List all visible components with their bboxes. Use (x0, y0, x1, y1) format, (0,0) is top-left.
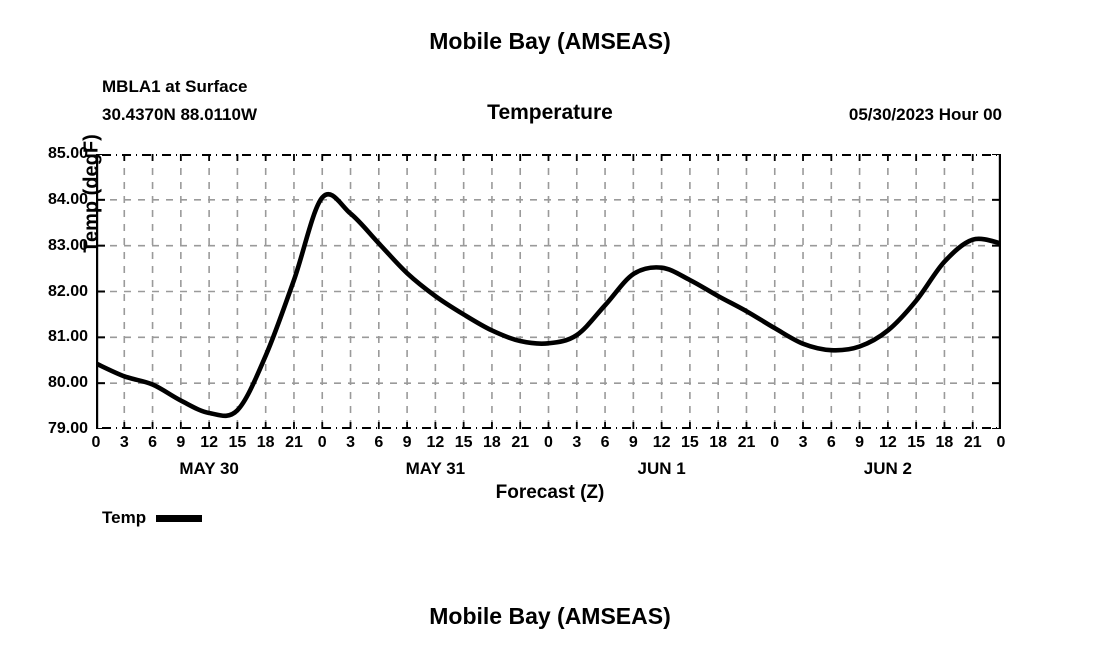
station-label: MBLA1 at Surface (102, 77, 247, 97)
y-tick-label: 81.00 (8, 329, 88, 345)
x-tick-label: 0 (981, 434, 1021, 452)
chart-page: Mobile Bay (AMSEAS) MBLA1 at Surface 30.… (0, 0, 1100, 650)
plot-area (96, 154, 1001, 429)
page-title-top: Mobile Bay (AMSEAS) (0, 28, 1100, 55)
legend-label-temp: Temp (102, 508, 146, 528)
x-axis-day-label: JUN 2 (808, 459, 968, 479)
y-tick-label: 83.00 (8, 238, 88, 254)
x-axis-day-label: JUN 1 (582, 459, 742, 479)
y-tick-label: 82.00 (8, 284, 88, 300)
temperature-line-chart (96, 154, 1001, 429)
y-tick-label: 85.00 (8, 146, 88, 162)
x-axis-day-label: MAY 31 (355, 459, 515, 479)
model-run-label: 05/30/2023 Hour 00 (849, 105, 1002, 125)
y-tick-label: 80.00 (8, 375, 88, 391)
y-tick-label: 84.00 (8, 192, 88, 208)
legend-swatch-temp (156, 515, 202, 522)
x-axis-label: Forecast (Z) (0, 482, 1100, 504)
legend: Temp (102, 508, 202, 528)
x-axis-day-label: MAY 30 (129, 459, 289, 479)
page-title-bottom: Mobile Bay (AMSEAS) (0, 603, 1100, 630)
